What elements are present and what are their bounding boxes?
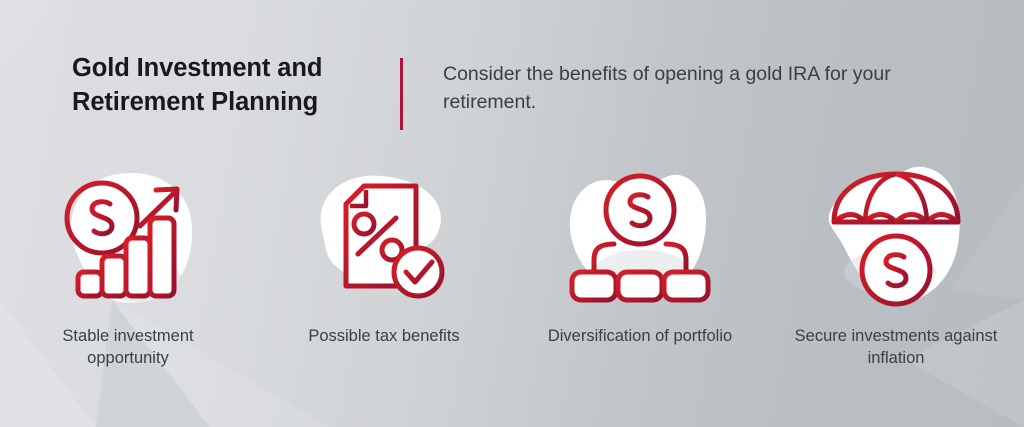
feature-diversification: Diversification of portfolio <box>512 160 768 370</box>
umbrella-dollar-icon <box>812 160 980 320</box>
banner-header: Gold Investment and Retirement Planning … <box>72 52 913 130</box>
feature-tax-benefits: Possible tax benefits <box>256 160 512 370</box>
title-divider <box>400 58 403 130</box>
growth-chart-dollar-icon <box>44 160 212 320</box>
feature-list: Stable investment opportunity <box>0 160 1024 370</box>
feature-stable-investment: Stable investment opportunity <box>0 160 256 370</box>
feature-caption: Secure investments against inflation <box>791 326 1001 370</box>
page-title: Gold Investment and Retirement Planning <box>72 52 382 120</box>
feature-caption: Diversification of portfolio <box>548 326 732 348</box>
feature-caption: Possible tax benefits <box>308 326 459 348</box>
dollar-hierarchy-icon <box>556 160 724 320</box>
feature-caption: Stable investment opportunity <box>23 326 233 370</box>
document-percent-check-icon <box>300 160 468 320</box>
page-subtitle: Consider the benefits of opening a gold … <box>443 61 913 116</box>
gold-ira-banner: Gold Investment and Retirement Planning … <box>0 0 1024 427</box>
feature-inflation-protection: Secure investments against inflation <box>768 160 1024 370</box>
